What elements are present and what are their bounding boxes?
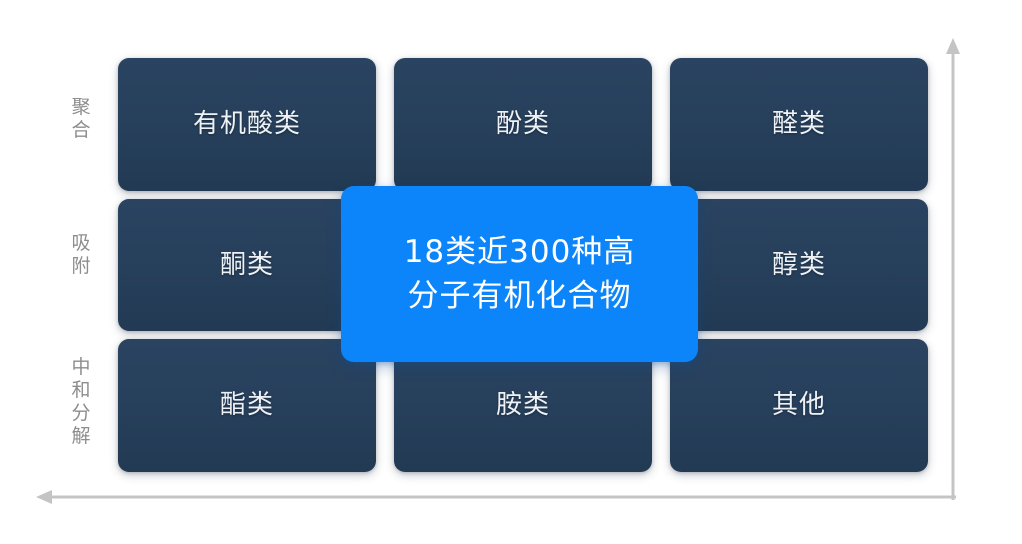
cell-label: 酚类 [496,110,550,139]
cell-esters[interactable]: 酯类 [118,339,376,472]
cell-others[interactable]: 其他 [670,339,928,472]
axis-horizontal-arrow [28,482,960,512]
cell-ketones[interactable]: 酮类 [118,199,376,332]
cell-label: 酮类 [220,251,274,280]
diagram-canvas: 聚 合 吸 附 中 和 分 解 有机酸类 酚类 醛类 酮类 醇类 酯类 胺类 其 [0,0,1022,544]
row-label-adsorption: 吸 附 [58,232,104,278]
central-callout-text: 18类近300种高 分子有机化合物 [404,230,636,318]
central-callout[interactable]: 18类近300种高 分子有机化合物 [341,186,698,362]
cell-label: 酯类 [220,391,274,420]
cell-label: 其他 [772,391,826,420]
cell-phenols[interactable]: 酚类 [394,58,652,191]
cell-label: 有机酸类 [193,110,301,139]
axis-vertical-arrow [938,30,968,502]
cell-alcohols[interactable]: 醇类 [670,199,928,332]
cell-label: 醇类 [772,251,826,280]
cell-organic-acids[interactable]: 有机酸类 [118,58,376,191]
row-label-neutralization-decomposition: 中 和 分 解 [58,356,104,448]
arrow-left-icon [28,482,960,512]
arrow-up-icon [938,30,968,502]
cell-label: 醛类 [772,110,826,139]
cell-label: 胺类 [496,391,550,420]
cell-aldehydes[interactable]: 醛类 [670,58,928,191]
row-label-polymerization: 聚 合 [58,96,104,142]
